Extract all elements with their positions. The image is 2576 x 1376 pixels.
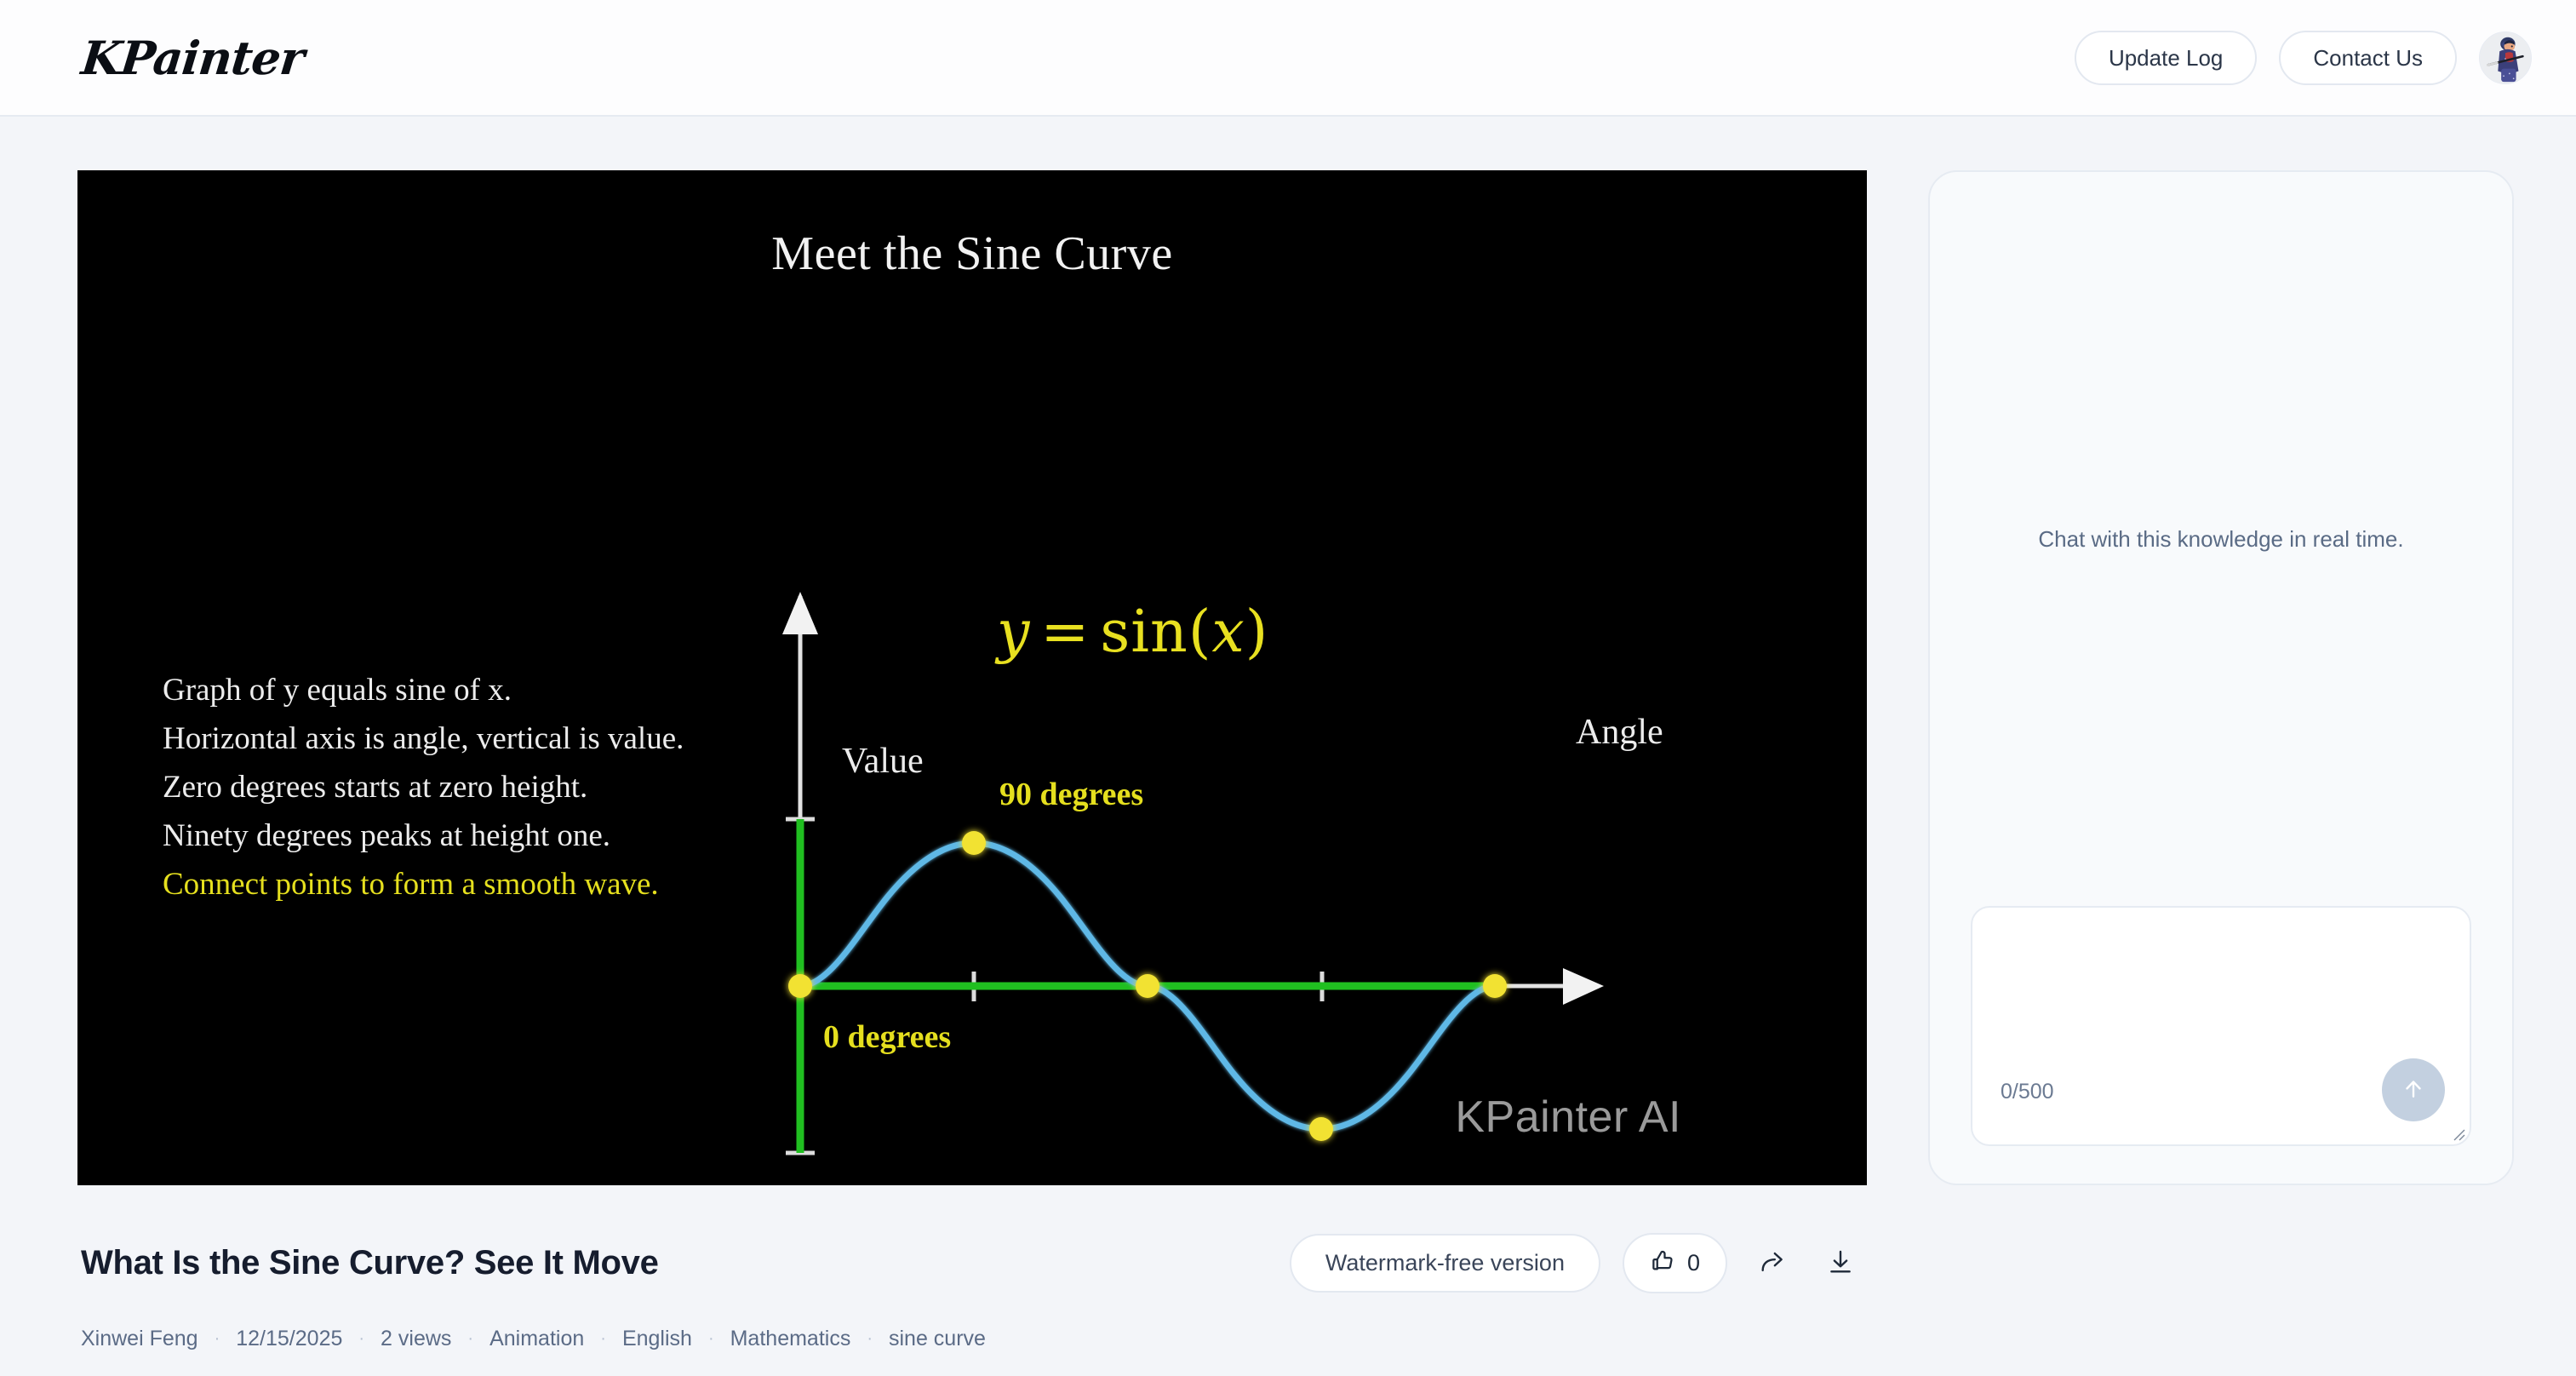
share-button[interactable] <box>1749 1239 1795 1287</box>
chat-messages-area: Chat with this knowledge in real time. <box>1930 172 2512 906</box>
contact-us-button[interactable]: Contact Us <box>2279 31 2457 85</box>
meta-separator: · <box>692 1329 730 1349</box>
app-logo[interactable]: KPainter <box>79 31 306 85</box>
thumbs-up-icon <box>1650 1248 1675 1278</box>
avatar[interactable] <box>2479 32 2532 84</box>
marker-270-degrees <box>1309 1117 1333 1141</box>
marker-360-degrees <box>1483 974 1507 998</box>
marker-0-degrees <box>788 974 812 998</box>
chat-input-container: 0/500 <box>1930 906 2512 1184</box>
page-title: What Is the Sine Curve? See It Move <box>81 1244 659 1282</box>
download-button[interactable] <box>1818 1239 1863 1287</box>
y-axis-label: Value <box>842 742 924 781</box>
meta-separator: · <box>850 1329 889 1349</box>
meta-views: 2 views <box>381 1327 451 1351</box>
meta-author[interactable]: Xinwei Feng <box>81 1327 198 1351</box>
meta-separator: · <box>584 1329 622 1349</box>
chat-empty-state: Chat with this knowledge in real time. <box>2038 526 2403 553</box>
x-axis-label: Angle <box>1576 713 1663 752</box>
avatar-image <box>2480 32 2531 83</box>
video-player[interactable]: Meet the Sine Curve y=sin(x) Graph of y … <box>77 170 1867 1185</box>
video-info-bar: What Is the Sine Curve? See It Move Wate… <box>77 1185 1867 1293</box>
meta-language[interactable]: English <box>622 1327 692 1351</box>
sine-curve-chart: Value Angle 90 degrees 0 degrees <box>77 170 1867 1185</box>
annotation-90-degrees: 90 degrees <box>999 777 1143 812</box>
header-actions: Update Log Contact Us <box>2075 31 2532 85</box>
video-watermark: KPainter AI <box>1455 1092 1681 1143</box>
marker-90-degrees <box>962 831 986 855</box>
meta-type[interactable]: Animation <box>489 1327 584 1351</box>
video-metadata: Xinwei Feng · 12/15/2025 · 2 views · Ani… <box>77 1293 1867 1351</box>
character-counter: 0/500 <box>2001 1080 2054 1104</box>
download-icon <box>1826 1247 1855 1279</box>
annotation-0-degrees: 0 degrees <box>823 1019 951 1055</box>
send-message-button[interactable] <box>2382 1058 2445 1121</box>
watermark-free-button[interactable]: Watermark-free version <box>1290 1234 1600 1293</box>
arrow-up-icon <box>2401 1076 2426 1104</box>
video-column: Meet the Sine Curve y=sin(x) Graph of y … <box>77 170 1867 1351</box>
app-header: KPainter Update Log Contact Us <box>0 0 2576 117</box>
meta-subject[interactable]: Mathematics <box>730 1327 851 1351</box>
like-count: 0 <box>1687 1252 1700 1275</box>
like-button[interactable]: 0 <box>1623 1233 1727 1293</box>
update-log-button[interactable]: Update Log <box>2075 31 2257 85</box>
meta-separator: · <box>342 1329 381 1349</box>
resize-handle[interactable] <box>2447 1123 2466 1142</box>
video-actions: Watermark-free version 0 <box>1290 1233 1863 1293</box>
meta-separator: · <box>198 1329 237 1349</box>
chat-panel: Chat with this knowledge in real time. 0… <box>1928 170 2514 1185</box>
chat-textarea-box[interactable]: 0/500 <box>1971 906 2471 1146</box>
share-icon <box>1758 1247 1787 1279</box>
meta-date: 12/15/2025 <box>236 1327 342 1351</box>
main-content: Meet the Sine Curve y=sin(x) Graph of y … <box>0 117 2576 1351</box>
marker-180-degrees <box>1136 974 1159 998</box>
meta-tag[interactable]: sine curve <box>889 1327 986 1351</box>
meta-separator: · <box>451 1329 489 1349</box>
